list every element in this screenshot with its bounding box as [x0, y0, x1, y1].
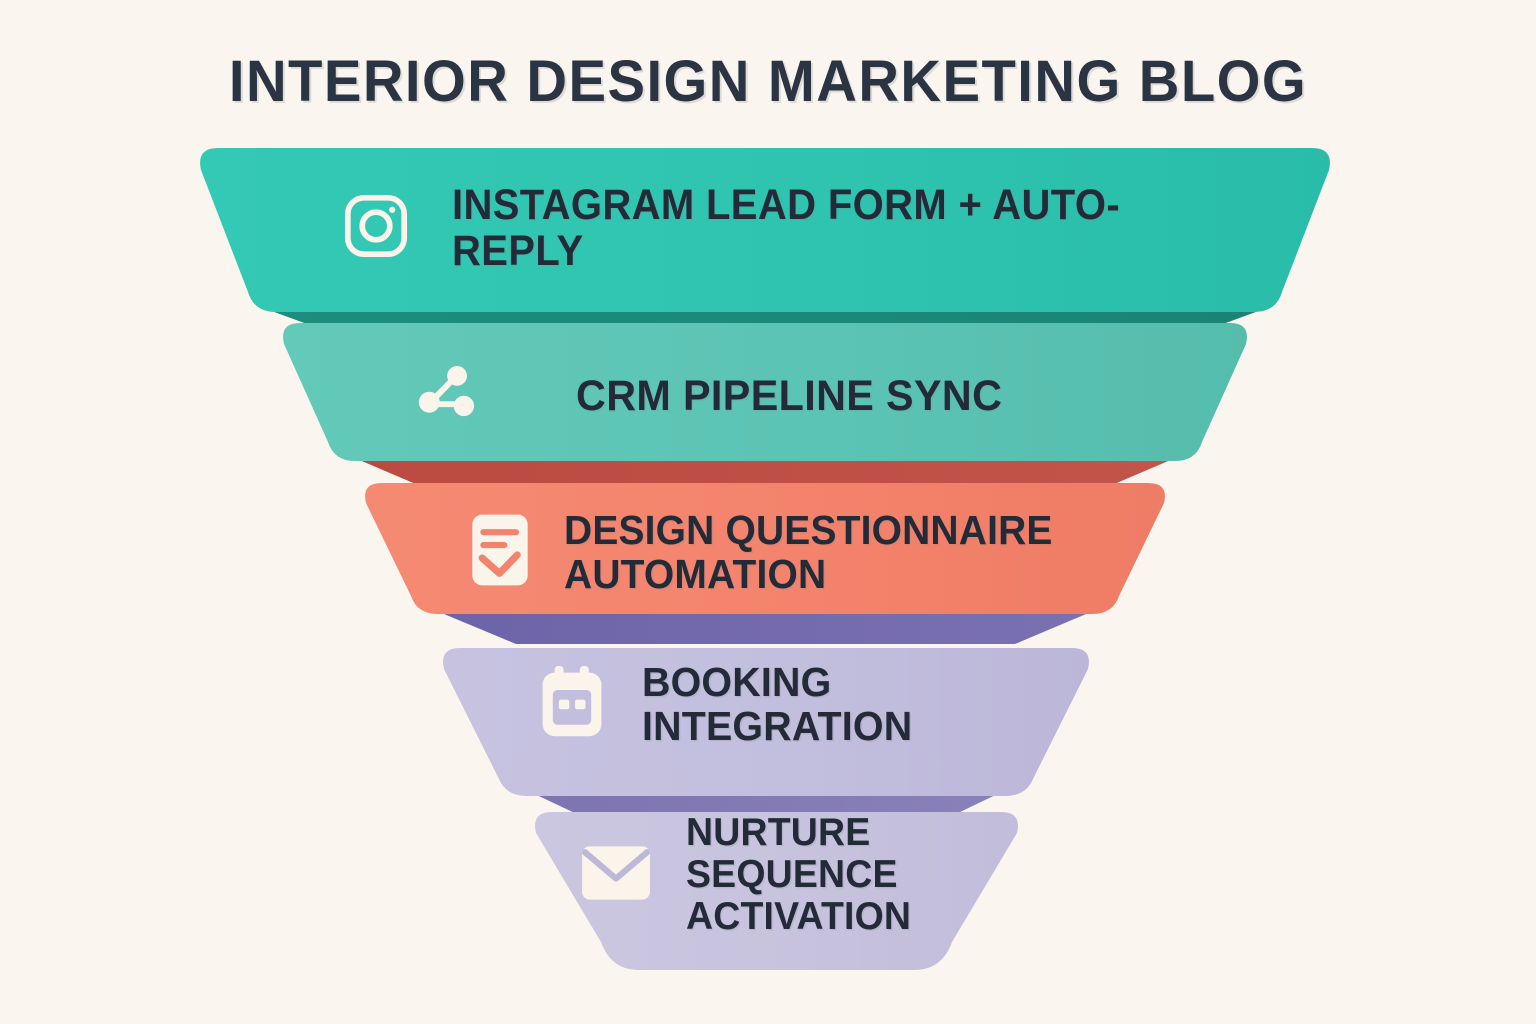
instagram-icon — [340, 190, 412, 267]
funnel-stage-5[interactable]: NURTURE SEQUENCE ACTIVATION — [578, 812, 998, 938]
funnel-stage-5-label: NURTURE SEQUENCE ACTIVATION — [686, 812, 911, 938]
calendar-icon — [536, 663, 608, 746]
funnel-stage-1-label: INSTAGRAM LEAD FORM + AUTO-REPLY — [452, 182, 1185, 275]
envelope-icon — [578, 842, 654, 909]
funnel-stage-2[interactable]: CRM PIPELINE SYNC — [412, 360, 1112, 433]
checklist-document-icon — [466, 510, 534, 595]
funnel-edge-3 — [432, 609, 1098, 644]
funnel-stage-2-label: CRM PIPELINE SYNC — [576, 373, 1002, 419]
funnel-stage-3-label: DESIGN QUESTIONNAIRE AUTOMATION — [564, 508, 1053, 597]
funnel-stage-4-label: BOOKING INTEGRATION — [642, 660, 912, 749]
share-nodes-icon — [412, 360, 484, 433]
funnel-stage-4[interactable]: BOOKING INTEGRATION — [536, 660, 1056, 749]
funnel-stage-1[interactable]: INSTAGRAM LEAD FORM + AUTO-REPLY — [340, 182, 1240, 275]
funnel-infographic: INTERIOR DESIGN MARKETING BLOG — [0, 0, 1536, 1024]
funnel-stage-3[interactable]: DESIGN QUESTIONNAIRE AUTOMATION — [466, 508, 1106, 597]
